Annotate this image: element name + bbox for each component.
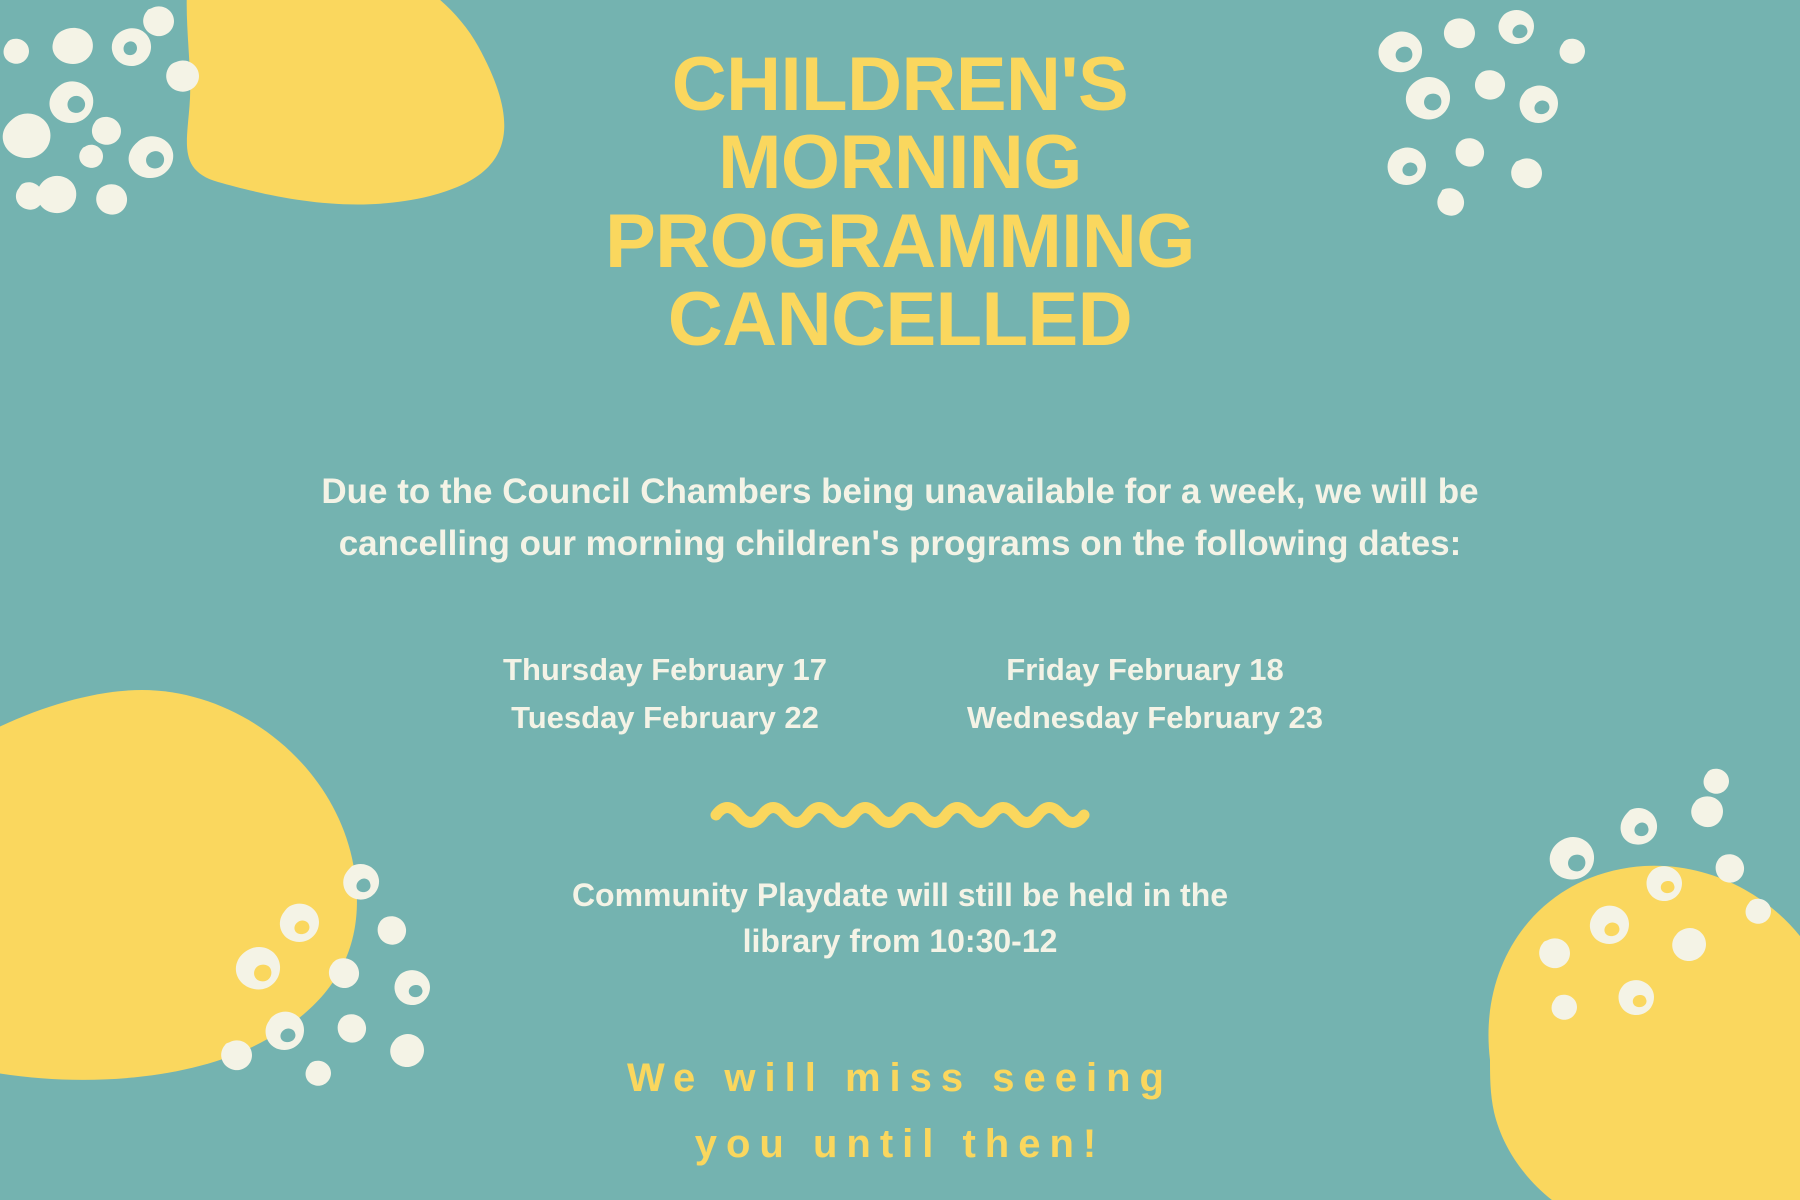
cancelled-dates-grid: Thursday February 17 Friday February 18 … (455, 649, 1345, 741)
date-item: Tuesday February 22 (455, 697, 875, 740)
poster-content: CHILDREN'S MORNING PROGRAMMING CANCELLED… (0, 0, 1800, 1200)
closing-line-1: We will miss seeing (300, 1045, 1500, 1111)
playdate-note: Community Playdate will still be held in… (400, 872, 1400, 965)
intro-line-2: cancelling our morning children's progra… (205, 518, 1595, 570)
playdate-line-1: Community Playdate will still be held in… (400, 872, 1400, 918)
title-line-2: MORNING (370, 124, 1430, 202)
intro-line-1: Due to the Council Chambers being unavai… (205, 466, 1595, 518)
date-item: Friday February 18 (945, 649, 1345, 692)
squiggle-divider-icon (710, 798, 1090, 832)
title-line-4: CANCELLED (370, 281, 1430, 359)
title-line-1: CHILDREN'S (370, 46, 1430, 124)
intro-paragraph: Due to the Council Chambers being unavai… (205, 466, 1595, 570)
poster-canvas: CHILDREN'S MORNING PROGRAMMING CANCELLED… (0, 0, 1800, 1200)
closing-message: We will miss seeing you until then! (300, 1045, 1500, 1177)
page-title: CHILDREN'S MORNING PROGRAMMING CANCELLED (370, 46, 1430, 359)
date-item: Thursday February 17 (455, 649, 875, 692)
date-item: Wednesday February 23 (945, 697, 1345, 740)
title-line-3: PROGRAMMING (370, 203, 1430, 281)
closing-line-2: you until then! (300, 1111, 1500, 1177)
playdate-line-2: library from 10:30-12 (400, 918, 1400, 964)
